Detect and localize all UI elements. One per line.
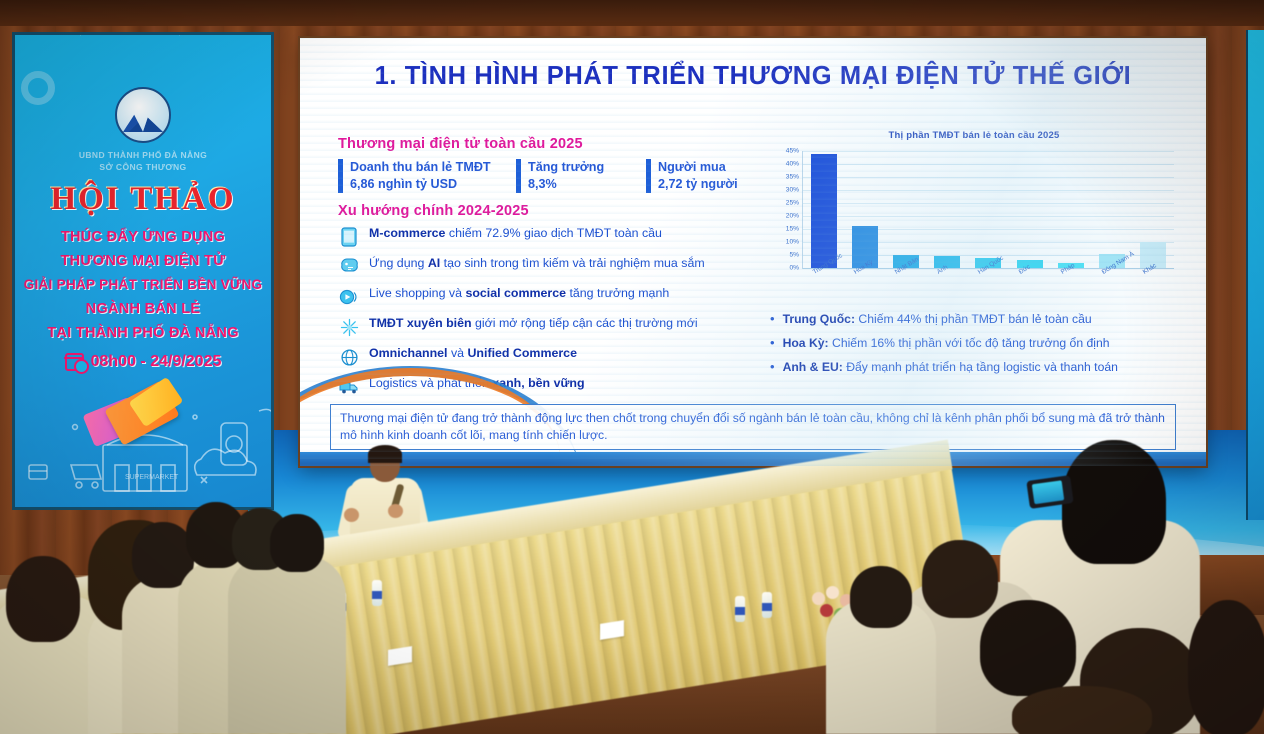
slide-bottom-band xyxy=(300,452,1206,466)
ai-brain-icon xyxy=(338,256,360,278)
bullet-text: Anh & EU: Đẩy mạnh phát triển hạ tầng lo… xyxy=(783,359,1118,376)
trend-bold: TMĐT xuyên biên xyxy=(369,316,472,330)
chart-bar xyxy=(811,154,837,268)
globe-network-icon xyxy=(338,346,360,368)
trend-item: TMĐT xuyên biên giới mở rộng tiếp cận cá… xyxy=(338,315,758,338)
kpi-growth: Tăng trưởng 8,3% xyxy=(516,159,636,193)
trend-item: Ứng dụng AI tạo sinh trong tìm kiếm và t… xyxy=(338,255,758,278)
bullet-dot-icon: • xyxy=(770,359,775,376)
banner-organization: UBND THÀNH PHỐ ĐÀ NẴNG SỞ CÔNG THƯƠNG xyxy=(15,149,271,173)
kpi-growth-label: Tăng trưởng xyxy=(528,159,636,176)
trend-bold: Omnichannel xyxy=(369,346,448,360)
water-bottle xyxy=(762,592,772,618)
chart-bullet-list: • Trung Quốc: Chiếm 44% thị phần TMĐT bá… xyxy=(770,311,1178,376)
trend-item: Live shopping và social commerce tăng tr… xyxy=(338,285,758,308)
trend-rest: giới mở rộng tiếp cận các thị trường mới xyxy=(472,316,698,330)
chart-bullet: • Anh & EU: Đẩy mạnh phát triển hạ tầng … xyxy=(770,359,1178,376)
presenter-hair xyxy=(368,445,402,463)
chart-bars xyxy=(803,151,1174,268)
trend-rest: và xyxy=(448,346,468,360)
banner-subtitle: THÚC ĐẨY ỨNG DỤNG THƯƠNG MẠI ĐIỆN TỬ GIẢ… xyxy=(15,225,271,345)
snowflake-globe-icon xyxy=(338,316,360,338)
trend-bold-inner: social commerce xyxy=(465,286,566,300)
bullet-text: Hoa Kỳ: Chiếm 16% thị phần với tốc độ tă… xyxy=(783,335,1110,352)
banner-time-text: 08h00 - 24/9/2025 xyxy=(91,353,222,371)
banner-org-line1: UBND THÀNH PHỐ ĐÀ NẴNG xyxy=(15,149,271,161)
chart-y-tick-label: 0% xyxy=(789,265,799,272)
chart-bullet: • Trung Quốc: Chiếm 44% thị phần TMĐT bá… xyxy=(770,311,1178,328)
bullet-rest: Đẩy mạnh phát triển hạ tầng logistic và … xyxy=(843,360,1118,374)
slide-footnote: Thương mại điện tử đang trở thành động l… xyxy=(330,404,1176,450)
trend-text: TMĐT xuyên biên giới mở rộng tiếp cận cá… xyxy=(369,315,729,332)
bullet-bold: Hoa Kỳ: xyxy=(783,336,829,350)
market-share-bar-chart: 0%5%10%15%20%25%30%35%40%45% Trung QuốcH… xyxy=(770,147,1178,299)
chart-bullet: • Hoa Kỳ: Chiếm 16% thị phần với tốc độ … xyxy=(770,335,1178,352)
bullet-dot-icon: • xyxy=(770,311,775,328)
bullet-rest: Chiếm 44% thị phần TMĐT bán lẻ toàn cầu xyxy=(855,312,1092,326)
danang-logo xyxy=(115,87,171,143)
trend-text: Ứng dụng AI tạo sinh trong tìm kiếm và t… xyxy=(369,255,729,272)
chart-y-tick-label: 5% xyxy=(789,252,799,259)
kpi-growth-value: 8,3% xyxy=(528,176,636,193)
trend-bold-inner: AI xyxy=(428,256,440,270)
trend-item: Omnichannel và Unified Commerce xyxy=(338,345,758,368)
secondary-banner-edge xyxy=(1246,30,1264,520)
banner-datetime: 08h00 - 24/9/2025 xyxy=(15,353,271,371)
trend-text: Live shopping và social commerce tăng tr… xyxy=(369,285,729,302)
kpi-buyers: Người mua 2,72 tỷ người xyxy=(646,159,758,193)
banner-org-line2: SỞ CÔNG THƯƠNG xyxy=(15,161,271,173)
chart-y-tick-label: 20% xyxy=(786,213,799,220)
trend-rest: Live shopping và social commerce tăng tr… xyxy=(369,286,669,300)
chart-y-tick-label: 40% xyxy=(786,161,799,168)
banner-sub-line5: TẠI THÀNH PHỐ ĐÀ NẴNG xyxy=(15,321,271,345)
bullet-rest: Chiếm 16% thị phần với tốc độ tăng trưởn… xyxy=(829,336,1110,350)
kpi-revenue-value: 6,86 nghìn tỷ USD xyxy=(350,176,506,193)
mountain-icon xyxy=(123,108,163,132)
bullet-bold: Trung Quốc: xyxy=(783,312,855,326)
calendar-clock-icon xyxy=(65,353,84,371)
banner-title: HỘI THẢO xyxy=(15,181,271,218)
banner-sub-line3: GIẢI PHÁP PHÁT TRIỂN BỀN VỮNG xyxy=(15,273,271,297)
slide-left-column: Thương mại điện tử toàn cầu 2025 Doanh t… xyxy=(338,136,758,405)
kpi-buyers-value: 2,72 tỷ người xyxy=(658,176,758,193)
trend-item: M-commerce chiếm 72.9% giao dịch TMĐT to… xyxy=(338,225,758,248)
presenter-hand-left xyxy=(344,508,359,522)
trend-rest: Ứng dụng AI tạo sinh trong tìm kiếm và t… xyxy=(369,256,705,270)
chart-y-tick-label: 15% xyxy=(786,225,799,232)
chart-plot-area: 0%5%10%15%20%25%30%35%40%45% xyxy=(802,151,1174,269)
banner-circle-decor xyxy=(21,71,55,105)
water-bottle xyxy=(372,580,382,606)
presenter-hand-right xyxy=(388,504,403,518)
banner-sub-line1: THÚC ĐẨY ỨNG DỤNG xyxy=(15,225,271,249)
trend-text: Omnichannel và Unified Commerce xyxy=(369,345,729,362)
chart-y-tick-label: 25% xyxy=(786,200,799,207)
water-bottle xyxy=(735,596,745,622)
live-video-icon xyxy=(338,286,360,308)
chart-y-tick-label: 45% xyxy=(786,148,799,155)
conference-room-photo: UBND THÀNH PHỐ ĐÀ NẴNG SỞ CÔNG THƯƠNG HỘ… xyxy=(0,0,1264,734)
chart-y-tick-label: 10% xyxy=(786,239,799,246)
chart-y-tick-label: 30% xyxy=(786,186,799,193)
ceiling-trim xyxy=(0,0,1264,26)
trend-bold2: Unified Commerce xyxy=(467,346,576,360)
banner-sub-line4: NGÀNH BÁN LẺ xyxy=(15,297,271,321)
event-standee-banner: UBND THÀNH PHỐ ĐÀ NẴNG SỞ CÔNG THƯƠNG HỘ… xyxy=(12,32,274,510)
bullet-text: Trung Quốc: Chiếm 44% thị phần TMĐT bán … xyxy=(783,311,1092,328)
kpi-revenue-label: Doanh thu bán lẻ TMĐT xyxy=(350,159,506,176)
chart-y-tick-label: 35% xyxy=(786,174,799,181)
kpi-row: Doanh thu bán lẻ TMĐT 6,86 nghìn tỷ USD … xyxy=(338,159,758,193)
kpi-revenue: Doanh thu bán lẻ TMĐT 6,86 nghìn tỷ USD xyxy=(338,159,506,193)
bullet-bold: Anh & EU: xyxy=(783,360,843,374)
chart-title: Thị phần TMĐT bán lẻ toàn cầu 2025 xyxy=(770,130,1178,141)
bullet-dot-icon: • xyxy=(770,335,775,352)
slide-title: 1. TÌNH HÌNH PHÁT TRIỂN THƯƠNG MẠI ĐIỆN … xyxy=(330,60,1176,92)
banner-illustration: SUPERMARKET xyxy=(15,387,271,510)
trends-section-heading: Xu hướng chính 2024-2025 xyxy=(338,203,758,219)
banner-sub-line2: THƯƠNG MẠI ĐIỆN TỬ xyxy=(15,249,271,273)
kpi-buyers-label: Người mua xyxy=(658,159,758,176)
trend-text: M-commerce chiếm 72.9% giao dịch TMĐT to… xyxy=(369,225,729,242)
slide-right-column: Thị phần TMĐT bán lẻ toàn cầu 2025 0%5%1… xyxy=(770,130,1178,383)
trend-bold: M-commerce xyxy=(369,226,445,240)
chart-x-axis-labels: Trung QuốcHoa KỳNhật BảnAnhHàn QuốcĐứcPh… xyxy=(802,271,1174,299)
supermarket-sign-text: SUPERMARKET xyxy=(125,474,179,481)
projection-screen: 1. TÌNH HÌNH PHÁT TRIỂN THƯƠNG MẠI ĐIỆN … xyxy=(300,38,1206,466)
mobile-phone-icon xyxy=(338,226,360,248)
global-section-heading: Thương mại điện tử toàn cầu 2025 xyxy=(338,136,758,152)
trend-rest: chiếm 72.9% giao dịch TMĐT toàn cầu xyxy=(445,226,662,240)
